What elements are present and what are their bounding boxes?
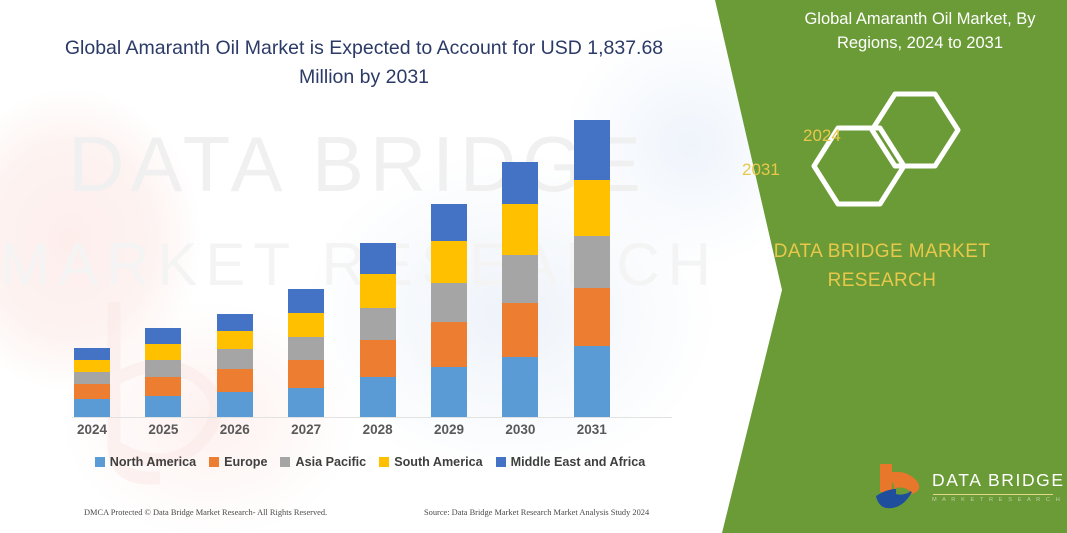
legend-item: South America [379,455,482,469]
bar-column [574,120,610,417]
bar-segment [431,367,467,417]
bar-column [360,243,396,417]
bar-segment [360,377,396,417]
x-axis-tick-label: 2031 [562,422,622,437]
bar-segment [217,369,253,391]
bar-segment [145,396,181,417]
bar-segment [502,204,538,255]
footer: DMCA Protected © Data Bridge Market Rese… [0,505,690,527]
logo-divider [933,494,1053,495]
legend-label: Europe [224,455,267,469]
bar-segment [288,337,324,360]
bar-segment [502,255,538,303]
panel-title: Global Amaranth Oil Market, By Regions, … [786,8,1054,56]
x-axis-tick-label: 2024 [62,422,122,437]
bar-segment [502,303,538,357]
bar-segment [574,120,610,180]
hexagon-pair-icon [800,88,1000,208]
x-axis-tick-label: 2030 [490,422,550,437]
bar-segment [431,322,467,368]
bar-segment [431,283,467,322]
logo-subtitle: M A R K E T R E S E A R C H [932,497,1065,503]
bar-segment [217,392,253,417]
legend-item: Asia Pacific [280,455,366,469]
chart-legend: North AmericaEuropeAsia PacificSouth Ame… [60,455,680,469]
footer-source: Source: Data Bridge Market Research Mark… [424,508,649,517]
bar-segment [574,288,610,346]
bar-segment [502,162,538,204]
bar-column [431,204,467,417]
legend-label: North America [110,455,196,469]
legend-swatch-icon [209,457,219,467]
hexagon-2024-label: 2024 [803,126,841,146]
x-axis-tick-label: 2029 [419,422,479,437]
chart-plot-area [60,110,680,417]
bar-segment [574,346,610,417]
bar-segment [74,348,110,360]
bar-segment [145,344,181,360]
bar-segment [431,241,467,282]
bar-segment [360,308,396,340]
bar-segment [288,388,324,417]
stacked-bar-chart: 20242025202620272028202920302031 [60,110,680,422]
brand-name: DATA BRIDGE MARKET RESEARCH [746,238,1018,295]
bar-segment [74,372,110,385]
legend-label: South America [394,455,482,469]
x-axis-tick-label: 2026 [205,422,265,437]
legend-item: Middle East and Africa [496,455,646,469]
bar-segment [145,377,181,396]
legend-item: Europe [209,455,267,469]
logo-title: DATA BRIDGE [932,470,1065,491]
bar-segment [74,360,110,372]
bar-segment [217,349,253,369]
hexagon-2024-icon [872,94,958,166]
bar-segment [288,360,324,389]
legend-swatch-icon [95,457,105,467]
x-axis-tick-label: 2028 [348,422,408,437]
legend-swatch-icon [379,457,389,467]
bar-column [217,314,253,417]
bar-segment [288,289,324,313]
bar-segment [502,357,538,417]
bar-segment [574,236,610,288]
hexagon-2031-label: 2031 [742,160,780,180]
bar-segment [74,399,110,417]
data-bridge-logo: DATA BRIDGE M A R K E T R E S E A R C H [872,462,1062,518]
x-axis-tick-label: 2025 [133,422,193,437]
bar-segment [360,274,396,308]
footer-copyright: DMCA Protected © Data Bridge Market Rese… [84,508,327,517]
data-bridge-logo-icon [872,462,928,514]
x-axis-tick-label: 2027 [276,422,336,437]
x-axis-labels: 20242025202620272028202920302031 [60,422,680,446]
bar-column [74,348,110,417]
bar-column [145,328,181,417]
bar-segment [217,314,253,331]
legend-swatch-icon [496,457,506,467]
bar-segment [217,331,253,349]
bar-segment [145,328,181,344]
legend-swatch-icon [280,457,290,467]
bar-column [288,289,324,417]
bar-segment [74,384,110,399]
legend-label: Middle East and Africa [511,455,646,469]
bar-column [502,162,538,417]
green-side-panel: Global Amaranth Oil Market, By Regions, … [690,0,1067,533]
x-axis-line [72,417,672,418]
legend-label: Asia Pacific [295,455,366,469]
bar-segment [360,340,396,377]
infographic-canvas: DATA BRIDGE MARKET RESEARCH Global Amara… [0,0,1067,533]
bar-segment [288,313,324,336]
bar-segment [431,204,467,241]
bar-segment [574,180,610,236]
page-title: Global Amaranth Oil Market is Expected t… [60,34,668,93]
legend-item: North America [95,455,196,469]
bar-segment [145,360,181,377]
bar-segment [360,243,396,274]
